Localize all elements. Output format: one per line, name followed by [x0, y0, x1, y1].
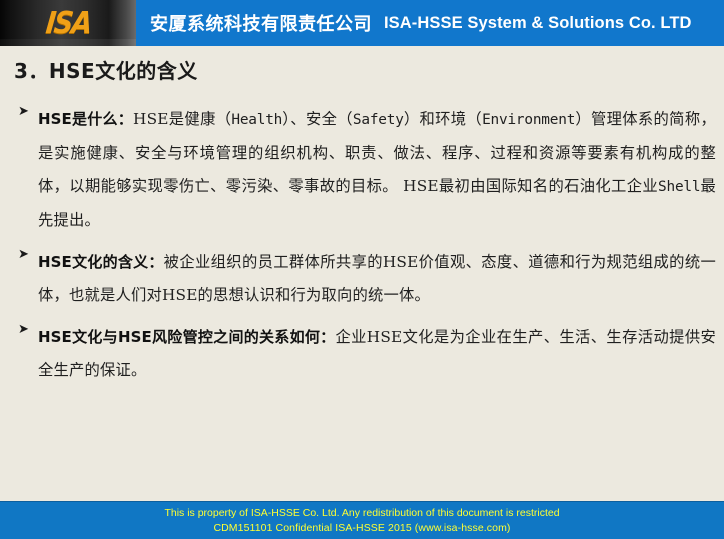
bullet-lead-3: HSE文化与HSE风险管控之间的关系如何： — [38, 328, 335, 346]
bullet-item-1: ➤ HSE是什么：HSE是健康（Health）、安全（Safety）和环境（En… — [16, 103, 716, 237]
arrow-bullet-icon: ➤ — [18, 248, 29, 261]
footer-copyright-line: This is property of ISA-HSSE Co. Ltd. An… — [164, 506, 559, 520]
slide-footer: This is property of ISA-HSSE Co. Ltd. An… — [0, 501, 724, 539]
page-title: 3．HSE文化的含义 — [14, 55, 198, 84]
bullet-item-2: ➤ HSE文化的含义：被企业组织的员工群体所共享的HSE价值观、态度、道德和行为… — [16, 246, 716, 312]
bullet-item-3: ➤ HSE文化与HSE风险管控之间的关系如何：企业HSE文化是为企业在生产、生活… — [16, 321, 716, 387]
arrow-bullet-icon: ➤ — [18, 105, 29, 118]
isa-logo-icon: ISA — [44, 6, 92, 41]
company-name-chinese: 安厦系统科技有限责任公司 — [150, 10, 372, 36]
bullet-paragraph-2: HSE文化的含义：被企业组织的员工群体所共享的HSE价值观、态度、道德和行为规范… — [38, 246, 716, 312]
slide-body: ➤ HSE是什么：HSE是健康（Health）、安全（Safety）和环境（En… — [16, 103, 716, 396]
presentation-slide: ISA 安厦系统科技有限责任公司 ISA-HSSE System & Solut… — [0, 0, 724, 539]
bullet-body-1: HSE是健康（Health）、安全（Safety）和环境（Environment… — [38, 110, 716, 229]
bullet-paragraph-3: HSE文化与HSE风险管控之间的关系如何：企业HSE文化是为企业在生产、生活、生… — [38, 321, 716, 387]
slide-header: ISA 安厦系统科技有限责任公司 ISA-HSSE System & Solut… — [0, 0, 724, 46]
company-name-english: ISA-HSSE System & Solutions Co. LTD — [384, 14, 692, 33]
bullet-lead-1: HSE是什么： — [38, 110, 133, 128]
company-logo-panel: ISA — [0, 0, 136, 46]
header-title-bar: 安厦系统科技有限责任公司 ISA-HSSE System & Solutions… — [136, 0, 724, 46]
bullet-paragraph-1: HSE是什么：HSE是健康（Health）、安全（Safety）和环境（Envi… — [38, 103, 716, 237]
footer-confidential-line: CDM151101 Confidential ISA-HSSE 2015 (ww… — [213, 521, 510, 535]
bullet-lead-2: HSE文化的含义： — [38, 253, 164, 271]
arrow-bullet-icon: ➤ — [18, 323, 29, 336]
